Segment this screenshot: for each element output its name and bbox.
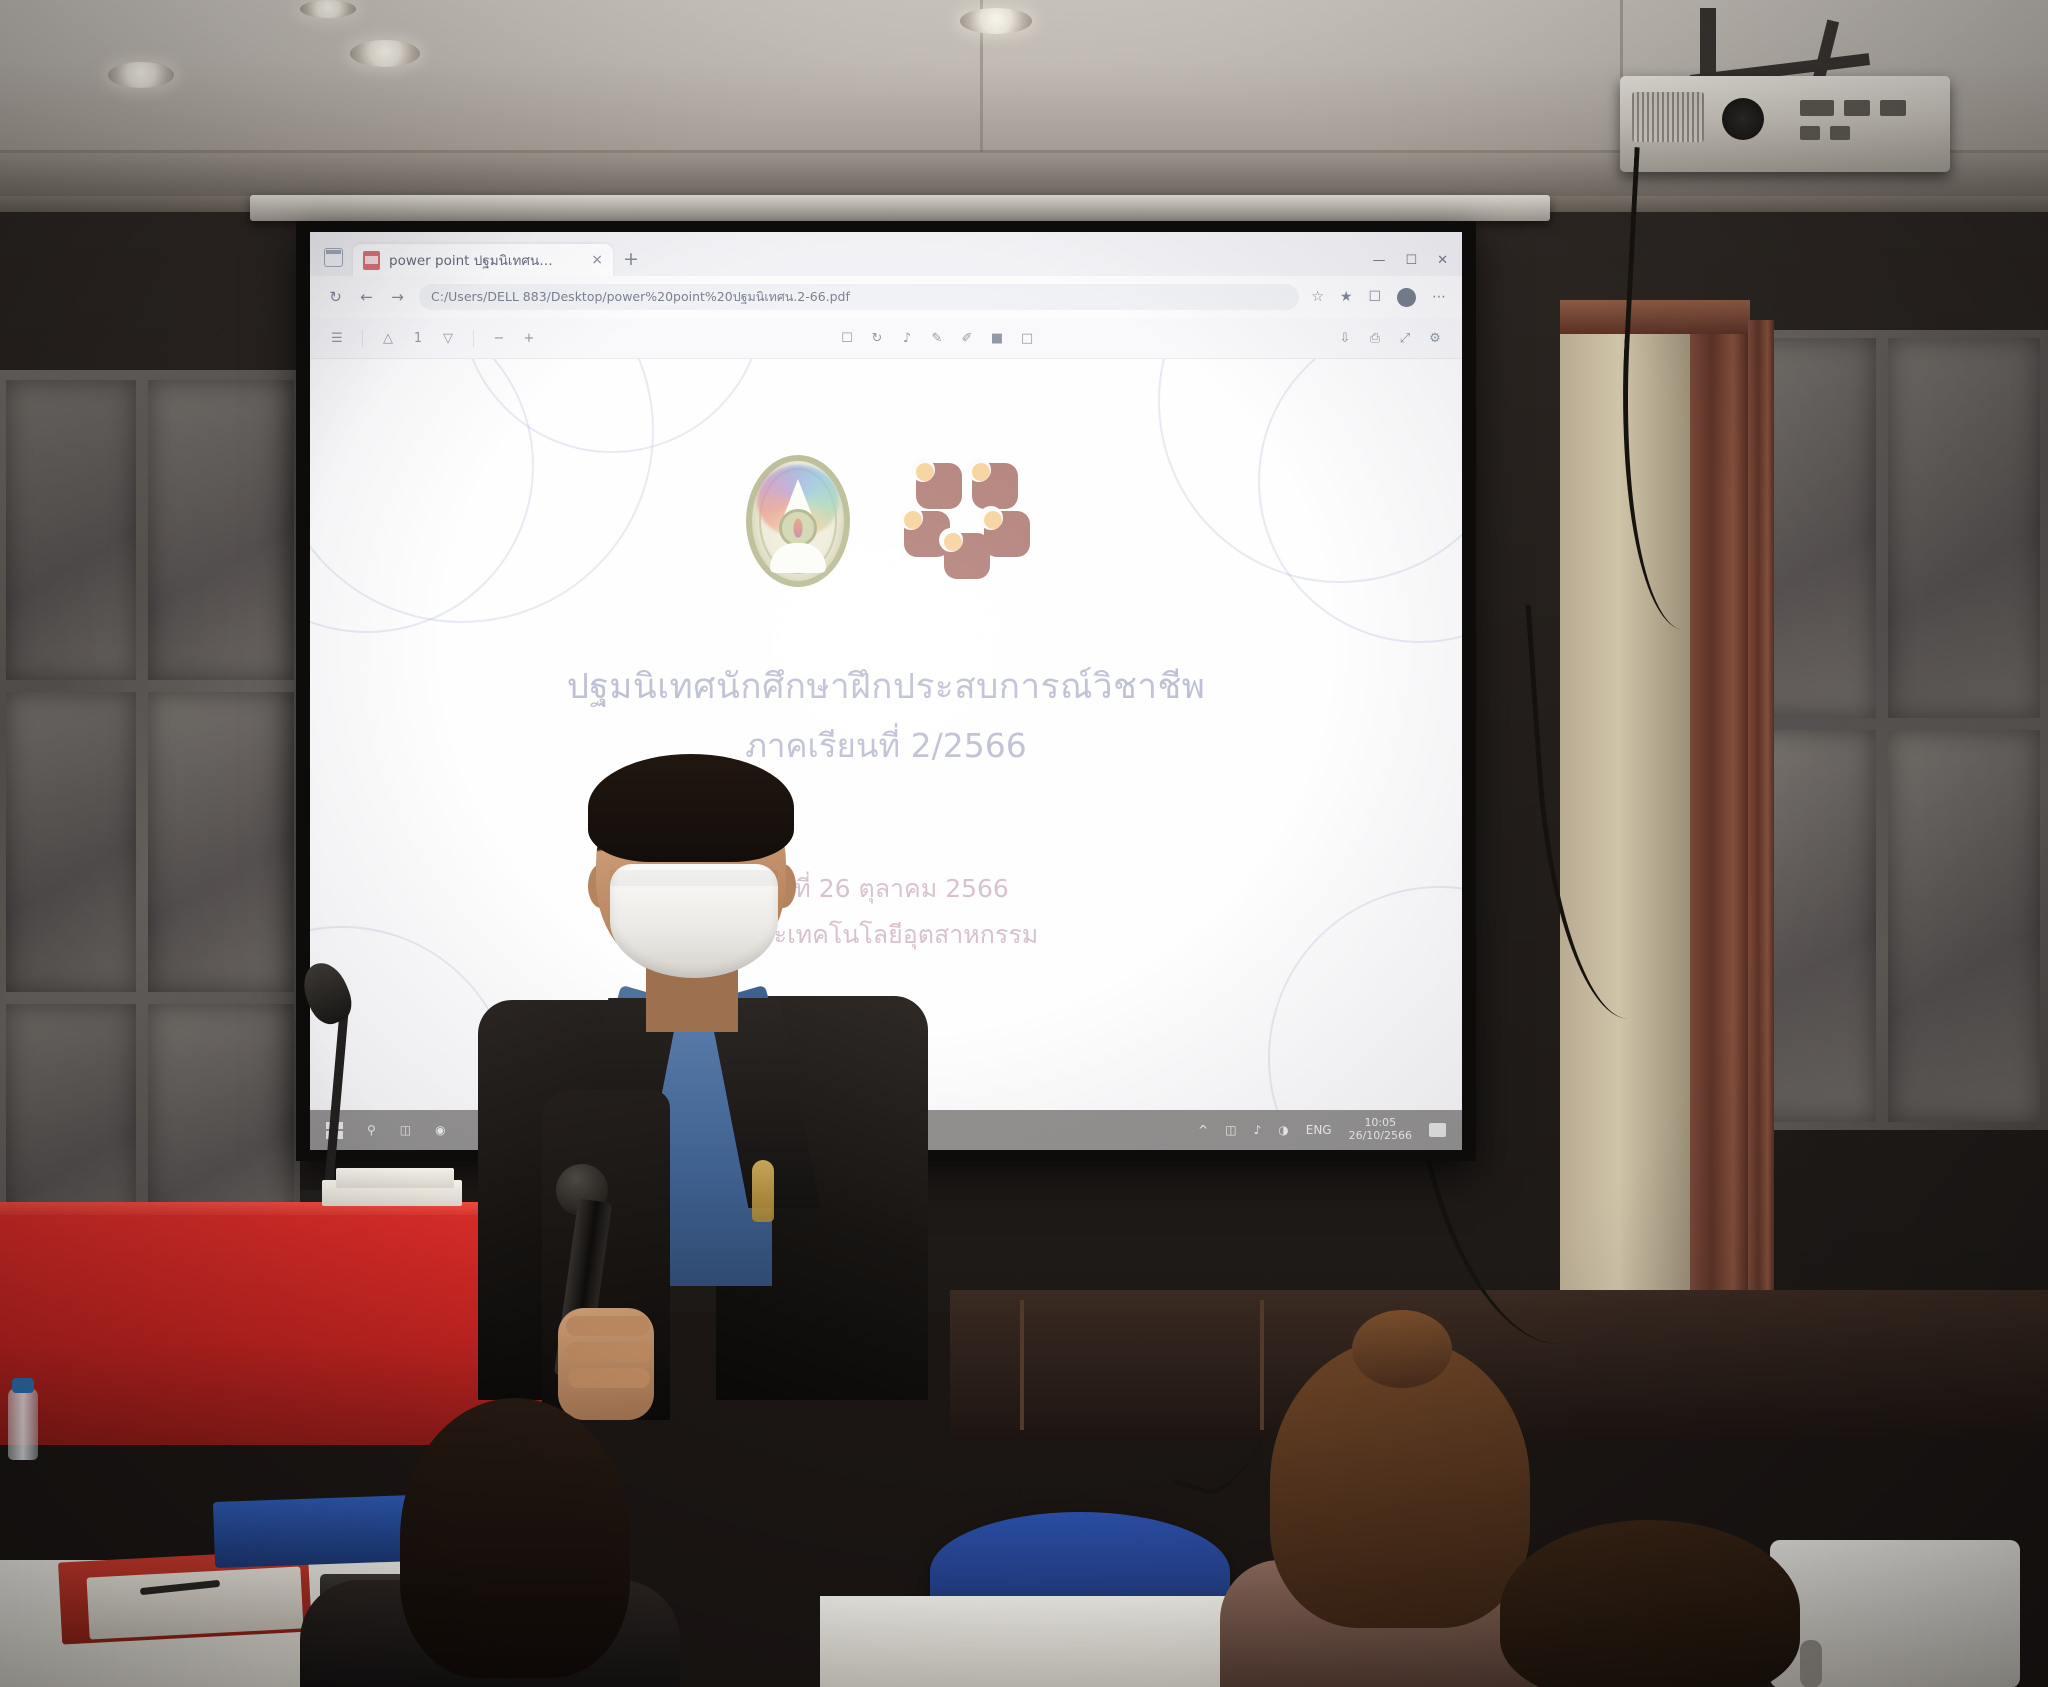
save-icon[interactable]: ⇩ (1332, 325, 1358, 351)
finger (568, 1368, 650, 1388)
new-tab-button[interactable]: + (623, 248, 639, 270)
sidebar-toggle-icon[interactable]: ☰ (324, 325, 350, 351)
back-icon[interactable]: ← (357, 288, 376, 306)
ceiling-downlight (350, 40, 420, 67)
lapel-pin (752, 1160, 774, 1222)
favorites-icon[interactable]: ★ (1340, 289, 1353, 305)
profile-avatar[interactable] (1397, 288, 1416, 307)
minimize-button[interactable]: — (1372, 253, 1385, 268)
wifi-icon[interactable]: ◑ (1278, 1123, 1288, 1137)
browser-tab[interactable]: power point ปฐมนิเทศน.2-66 × (353, 244, 613, 276)
acoustic-panel-tile (6, 380, 136, 680)
flower-petal (944, 533, 990, 579)
close-tab-icon[interactable]: × (591, 252, 603, 268)
settings-more-icon[interactable]: ⋯ (1432, 289, 1446, 305)
ceiling-downlight (108, 62, 174, 88)
slide-logos (310, 455, 1462, 587)
projector-port (1800, 126, 1820, 140)
battery-icon[interactable]: ◫ (1225, 1123, 1236, 1137)
show-hidden-icons-chevron[interactable]: ^ (1198, 1123, 1208, 1137)
browser-tab-strip: power point ปฐมนิเทศน.2-66 × + — ☐ ✕ (310, 232, 1462, 276)
projector-mount-bracket (1700, 8, 1716, 74)
acoustic-panel-tile (6, 692, 136, 992)
erase-icon[interactable]: □ (1014, 325, 1040, 351)
projector-port (1800, 100, 1834, 116)
mask-top-band (610, 870, 778, 886)
audience-hair-bun (1352, 1310, 1452, 1388)
five-petal-flower-logo (908, 461, 1026, 581)
finger (566, 1316, 650, 1336)
toolbar-separator (362, 330, 363, 347)
page-down-icon[interactable]: ▽ (435, 325, 461, 351)
page-number-field[interactable]: 1 (405, 325, 431, 351)
bottle-cap (12, 1378, 34, 1393)
add-text-icon[interactable]: ✎ (924, 325, 950, 351)
browser-address-bar: ↻ ← → C:/Users/DELL 883/Desktop/power%20… (310, 276, 1462, 318)
speaker-presenter (470, 760, 940, 1380)
ceiling-downlight (960, 8, 1032, 34)
volume-icon[interactable]: ♪ (1254, 1123, 1262, 1137)
reload-icon[interactable]: ↻ (326, 288, 345, 306)
zoom-out-icon[interactable]: − (486, 325, 512, 351)
maximize-button[interactable]: ☐ (1405, 253, 1417, 268)
close-window-button[interactable]: ✕ (1437, 253, 1448, 268)
projector-vent (1632, 92, 1704, 142)
projector-lens (1722, 98, 1764, 140)
water-bottle (8, 1388, 38, 1460)
finger (566, 1342, 652, 1362)
rotate-icon[interactable]: ↻ (864, 325, 890, 351)
tab-title: power point ปฐมนิเทศน.2-66 (389, 249, 554, 271)
projection-screen-housing (250, 195, 1550, 221)
projector-port (1844, 100, 1870, 116)
language-indicator[interactable]: ENG (1306, 1123, 1332, 1137)
url-input[interactable]: C:/Users/DELL 883/Desktop/power%20point%… (419, 284, 1299, 310)
conference-room-scene: power point ปฐมนิเทศน.2-66 × + — ☐ ✕ ↻ ←… (0, 0, 2048, 1687)
seal-flame-icon (794, 519, 803, 538)
task-view-icon[interactable]: ◫ (400, 1123, 411, 1137)
page-up-icon[interactable]: △ (375, 325, 401, 351)
tab-search-icon[interactable] (324, 248, 343, 267)
projector-port (1830, 126, 1850, 140)
add-favorite-icon[interactable]: ☆ (1311, 289, 1324, 305)
pdf-file-icon (363, 251, 380, 270)
white-chair-leg (1800, 1640, 1822, 1687)
audience-member-hair (400, 1398, 630, 1678)
flower-petal (984, 511, 1030, 557)
slide-title: ปฐมนิเทศนักศึกษาฝึกประสบการณ์วิชาชีพ (310, 659, 1462, 714)
window-controls: — ☐ ✕ (1372, 253, 1448, 268)
collections-icon[interactable]: ☐ (1368, 289, 1381, 305)
acoustic-panel-tile (1888, 338, 2040, 718)
document-folder (87, 1566, 304, 1639)
forward-icon[interactable]: → (388, 288, 407, 306)
flower-petal (972, 463, 1018, 509)
toolbar-separator (473, 330, 474, 347)
wall-panel-divider (1020, 1300, 1024, 1430)
ceiling-downlight (300, 0, 356, 18)
university-seal-logo (746, 455, 850, 587)
flower-petal (916, 463, 962, 509)
projector-port (1880, 100, 1906, 116)
taskbar-clock[interactable]: 10:05 26/10/2566 (1349, 1117, 1412, 1142)
wood-column-far-right (1748, 320, 1774, 1340)
highlight-icon[interactable]: ■ (984, 325, 1010, 351)
pdf-viewer-toolbar: ☰ △ 1 ▽ − + ☐ ↻ ♪ ✎ ✐ ■ □ ⇩ ⎙ ⤢ ⚙ (310, 318, 1462, 359)
search-icon[interactable]: ⚲ (367, 1123, 376, 1137)
address-bar-actions: ☆ ★ ☐ ⋯ (1311, 288, 1446, 307)
face-mask (610, 864, 778, 978)
clock-date: 26/10/2566 (1349, 1130, 1412, 1143)
system-tray: ^ ◫ ♪ ◑ ENG 10:05 26/10/2566 (1198, 1117, 1446, 1142)
acoustic-panel-tile (1888, 730, 2040, 1122)
settings-icon[interactable]: ⚙ (1422, 325, 1448, 351)
edge-browser-icon[interactable]: ◉ (435, 1123, 445, 1137)
fit-page-icon[interactable]: ☐ (834, 325, 860, 351)
action-center-icon[interactable] (1429, 1123, 1446, 1137)
papers-on-table (336, 1168, 454, 1188)
read-aloud-icon[interactable]: ♪ (894, 325, 920, 351)
hair (588, 754, 794, 862)
print-icon[interactable]: ⎙ (1362, 325, 1388, 351)
acoustic-panel-tile (148, 692, 294, 992)
draw-icon[interactable]: ✐ (954, 325, 980, 351)
fit-width-icon[interactable]: ⤢ (1392, 325, 1418, 351)
zoom-in-icon[interactable]: + (516, 325, 542, 351)
left-wall-acoustic-panel (0, 370, 300, 1270)
audience-member-hair (1500, 1520, 1800, 1687)
acoustic-panel-tile (148, 380, 294, 680)
